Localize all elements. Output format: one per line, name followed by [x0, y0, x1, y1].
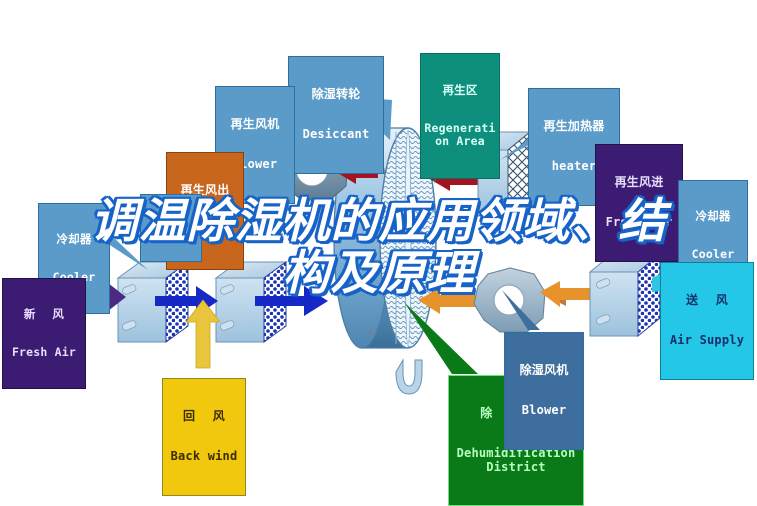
label-regeneration-area-cn: 再生区: [423, 84, 497, 97]
label-regeneration-fresh-air-in-en: Fresh Air: [598, 216, 680, 229]
label-air-supply-cn: 送 风: [663, 294, 751, 307]
label-dehumidification-district-en: Dehumidification District: [451, 447, 581, 474]
label-back-wind: 回 风 Back wind: [162, 378, 246, 496]
label-air-supply: 送 风 Air Supply: [660, 262, 754, 380]
label-regeneration-area: 再生区 Regenerati on Area: [420, 53, 500, 179]
label-back-wind-cn: 回 风: [165, 410, 243, 423]
label-back-wind-en: Back wind: [165, 450, 243, 463]
label-regeneration-fresh-air-in: 再生风进 Fresh Air: [595, 144, 683, 262]
label-fresh-air-in: 新 风 Fresh Air: [2, 278, 86, 389]
label-dehumidification-blower-cn: 除湿风机: [507, 364, 581, 377]
cooling-coil-3: [590, 254, 660, 336]
label-cooler-left-1-cn: 冷却器: [41, 233, 107, 246]
label-dehumidification-blower: 除湿风机 Blower: [504, 332, 584, 450]
label-cooler-left-2: 冷却器: [140, 194, 202, 262]
label-fresh-air-in-cn: 新 风: [5, 308, 83, 321]
label-dehumidification-blower-en: Blower: [507, 404, 581, 417]
label-desiccant-rotor: 除湿转轮 Desiccant: [288, 56, 384, 174]
label-regeneration-area-en: Regenerati on Area: [423, 122, 497, 148]
back-wind-arrow: [186, 300, 220, 368]
label-cooler-right-en: Cooler: [681, 248, 745, 261]
diagram-canvas: 除湿转轮 Desiccant 再生风机 Blower 再生区 Regenerat…: [0, 0, 757, 488]
drain-pan: [396, 360, 422, 394]
label-air-supply-en: Air Supply: [663, 334, 751, 347]
watermark-text: XI: [366, 326, 378, 338]
label-fresh-air-in-en: Fresh Air: [5, 346, 83, 359]
label-regeneration-blower-cn: 再生风机: [218, 118, 292, 131]
label-cooler-left-2-cn: 冷却器: [143, 222, 199, 234]
label-desiccant-rotor-cn: 除湿转轮: [291, 88, 381, 101]
label-desiccant-rotor-en: Desiccant: [291, 128, 381, 141]
label-regeneration-fresh-air-in-cn: 再生风进: [598, 176, 680, 189]
label-cooler-right-cn: 冷却器: [681, 210, 745, 223]
label-regeneration-heater-cn: 再生加热器: [531, 120, 617, 133]
